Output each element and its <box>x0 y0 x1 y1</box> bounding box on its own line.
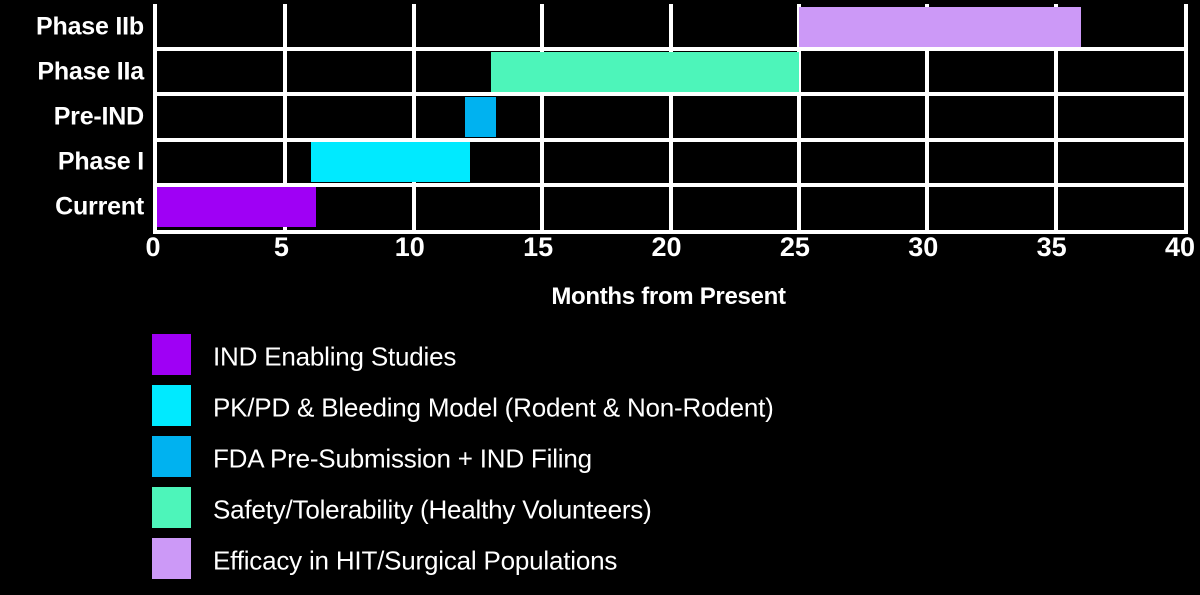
y-axis-label-phase-iia: Phase IIa <box>0 59 144 84</box>
vertical-gridline <box>540 4 544 230</box>
gantt-bar-phase-i <box>311 142 470 182</box>
legend-label: IND Enabling Studies <box>213 341 456 372</box>
legend-label: Safety/Tolerability (Healthy Volunteers) <box>213 494 652 525</box>
plot-frame <box>153 4 1188 234</box>
x-tick-0: 0 <box>145 234 160 261</box>
legend-swatch <box>152 487 191 528</box>
y-axis-category-labels: Phase IIbPhase IIaPre-INDPhase ICurrent <box>0 0 148 230</box>
x-axis-tick-labels: 0510152025303540 <box>0 234 1200 268</box>
x-tick-25: 25 <box>780 234 810 261</box>
x-tick-40: 40 <box>1165 234 1195 261</box>
legend-swatch <box>152 538 191 579</box>
legend-swatch <box>152 436 191 477</box>
gantt-bar-phase-iia <box>491 52 799 92</box>
legend-item: FDA Pre-Submission + IND Filing <box>152 433 1052 484</box>
legend-swatch <box>152 385 191 426</box>
legend-item: Safety/Tolerability (Healthy Volunteers) <box>152 484 1052 535</box>
x-tick-20: 20 <box>651 234 681 261</box>
y-axis-label-current: Current <box>0 195 144 220</box>
gantt-bar-phase-iib <box>799 7 1081 47</box>
plot-inner <box>157 4 1184 230</box>
gantt-bar-current <box>157 187 316 227</box>
x-tick-15: 15 <box>523 234 553 261</box>
legend-swatch <box>152 334 191 375</box>
x-tick-35: 35 <box>1037 234 1067 261</box>
gantt-bar-pre-ind <box>465 97 496 137</box>
x-tick-5: 5 <box>274 234 289 261</box>
x-tick-30: 30 <box>908 234 938 261</box>
legend-label: Efficacy in HIT/Surgical Populations <box>213 545 617 576</box>
vertical-gridline <box>412 4 416 230</box>
legend-label: PK/PD & Bleeding Model (Rodent & Non-Rod… <box>213 392 774 423</box>
chart-area: Phase IIbPhase IIaPre-INDPhase ICurrent … <box>0 0 1200 320</box>
legend-item: IND Enabling Studies <box>152 331 1052 382</box>
y-axis-label-phase-i: Phase I <box>0 150 144 175</box>
y-axis-label-pre-ind: Pre-IND <box>0 105 144 130</box>
legend-item: Efficacy in HIT/Surgical Populations <box>152 535 1052 586</box>
x-tick-10: 10 <box>395 234 425 261</box>
chart-legend: IND Enabling StudiesPK/PD & Bleeding Mod… <box>152 331 1052 586</box>
vertical-gridline <box>669 4 673 230</box>
gantt-chart-figure: Phase IIbPhase IIaPre-INDPhase ICurrent … <box>0 0 1200 595</box>
y-axis-label-phase-iib: Phase IIb <box>0 14 144 39</box>
legend-item: PK/PD & Bleeding Model (Rodent & Non-Rod… <box>152 382 1052 433</box>
legend-label: FDA Pre-Submission + IND Filing <box>213 443 592 474</box>
x-axis-title: Months from Present <box>153 283 1184 311</box>
